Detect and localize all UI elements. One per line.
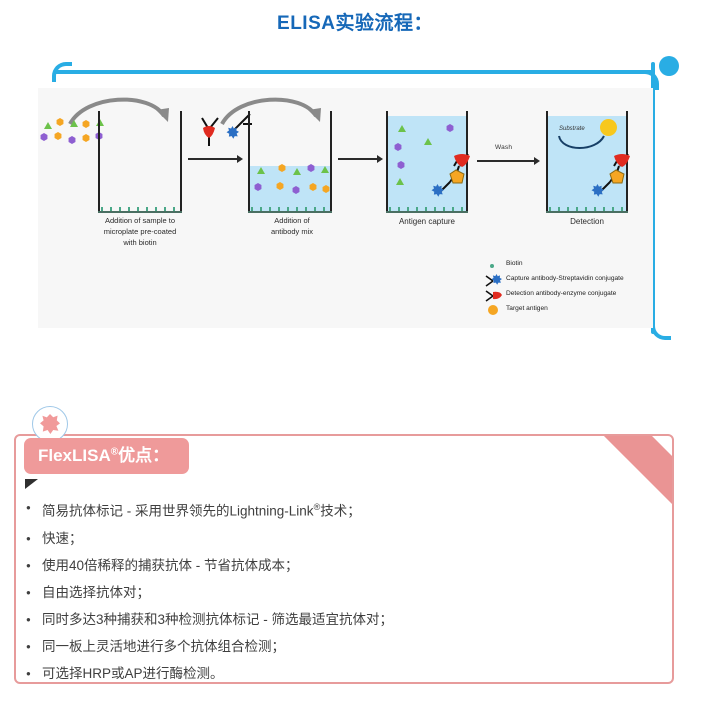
flower-badge xyxy=(32,406,68,442)
arrow-2-3-head-icon xyxy=(377,155,383,163)
legend-label-target-antigen: Target antigen xyxy=(506,305,548,312)
step-1-caption-line1: Addition of sample to xyxy=(105,216,175,225)
bullet-text-1a: 简易抗体标记 - 采用世界领先的Lightning-Link xyxy=(42,504,314,519)
step-4-caption: Detection xyxy=(546,216,628,228)
page-title: ELISA实验流程： xyxy=(0,8,710,35)
legend-item-target-antigen: Target antigen xyxy=(484,303,654,318)
step-1-caption: Addition of sample to microplate pre-coa… xyxy=(80,216,200,249)
bullet-text-1b: 技术； xyxy=(320,504,361,519)
legend-label-detection-antibody: Detection antibody-enzyme conjugate xyxy=(506,290,616,297)
flower-icon xyxy=(40,414,60,434)
frame-corner-bottom-icon xyxy=(651,320,671,340)
diagram-legend: Biotin Capture antibody-Streptavidin con… xyxy=(484,258,654,318)
list-item: 自由选择抗体对； xyxy=(24,579,644,606)
legend-item-capture-antibody: Capture antibody-Streptavidin conjugate xyxy=(484,273,654,288)
wash-label: Wash xyxy=(495,144,512,151)
bullet-text-2: 快速； xyxy=(42,531,83,546)
tag-main-text: FlexLISA xyxy=(38,446,111,465)
biotin-icon xyxy=(490,264,494,268)
detection-antibody-icon xyxy=(198,116,224,150)
step-2-caption-line2: antibody mix xyxy=(271,227,313,236)
legend-item-biotin: Biotin xyxy=(484,258,654,273)
tag-suffix-text: 优点： xyxy=(118,446,169,465)
frame-dot-icon xyxy=(659,56,679,76)
bullet-text-3: 使用40倍稀释的捕获抗体 - 节省抗体成本； xyxy=(42,558,299,573)
list-item: 快速； xyxy=(24,525,644,552)
list-item: 可选择HRP或AP进行酶检测。 xyxy=(24,660,644,687)
bullet-text-4: 自由选择抗体对； xyxy=(42,585,150,600)
arrow-2-3 xyxy=(338,158,378,160)
arrow-1-2-head-icon xyxy=(237,155,243,163)
substrate-label: Substrate xyxy=(559,126,585,132)
elisa-workflow-diagram: Addition of sample to microplate pre-coa… xyxy=(38,88,653,328)
list-item: 简易抗体标记 - 采用世界领先的Lightning-Link®技术； xyxy=(24,494,644,525)
detection-antibody-icon xyxy=(484,289,504,303)
wash-arrow-head-icon xyxy=(534,157,540,165)
frame-corner-top-right-icon xyxy=(639,70,659,90)
step-1-caption-line3: with biotin xyxy=(123,238,156,247)
tag-tail-icon xyxy=(25,479,38,489)
step-2-caption: Addition of antibody mix xyxy=(250,216,334,238)
legend-label-capture-antibody: Capture antibody-Streptavidin conjugate xyxy=(506,275,624,282)
bullet-text-7: 可选择HRP或AP进行酶检测。 xyxy=(42,666,224,681)
wash-arrow xyxy=(477,160,535,162)
frame-horizontal-line xyxy=(54,70,654,74)
legend-label-biotin: Biotin xyxy=(506,260,523,267)
bullet-text-6: 同一板上灵活地进行多个抗体组合检测； xyxy=(42,639,285,654)
microplate-well-2 xyxy=(248,111,332,213)
microplate-well-1 xyxy=(98,111,182,213)
list-item: 同时多达3种捕获和3种检测抗体标记 - 筛选最适宜抗体对； xyxy=(24,606,644,633)
step-1-caption-line2: microplate pre-coated xyxy=(104,227,177,236)
step-3-caption: Antigen capture xyxy=(386,216,468,228)
advantages-list: 简易抗体标记 - 采用世界领先的Lightning-Link®技术； 快速； 使… xyxy=(24,494,644,687)
arrow-1-2 xyxy=(188,158,238,160)
list-item: 同一板上灵活地进行多个抗体组合检测； xyxy=(24,633,644,660)
flexlisa-tag: FlexLISA®优点： xyxy=(24,438,189,474)
step-2-caption-line1: Addition of xyxy=(274,216,309,225)
list-item: 使用40倍稀释的捕获抗体 - 节省抗体成本； xyxy=(24,552,644,579)
legend-item-detection-antibody: Detection antibody-enzyme conjugate xyxy=(484,288,654,303)
bullet-text-5: 同时多达3种捕获和3种检测抗体标记 - 筛选最适宜抗体对； xyxy=(42,612,393,627)
target-antigen-icon xyxy=(488,305,498,315)
